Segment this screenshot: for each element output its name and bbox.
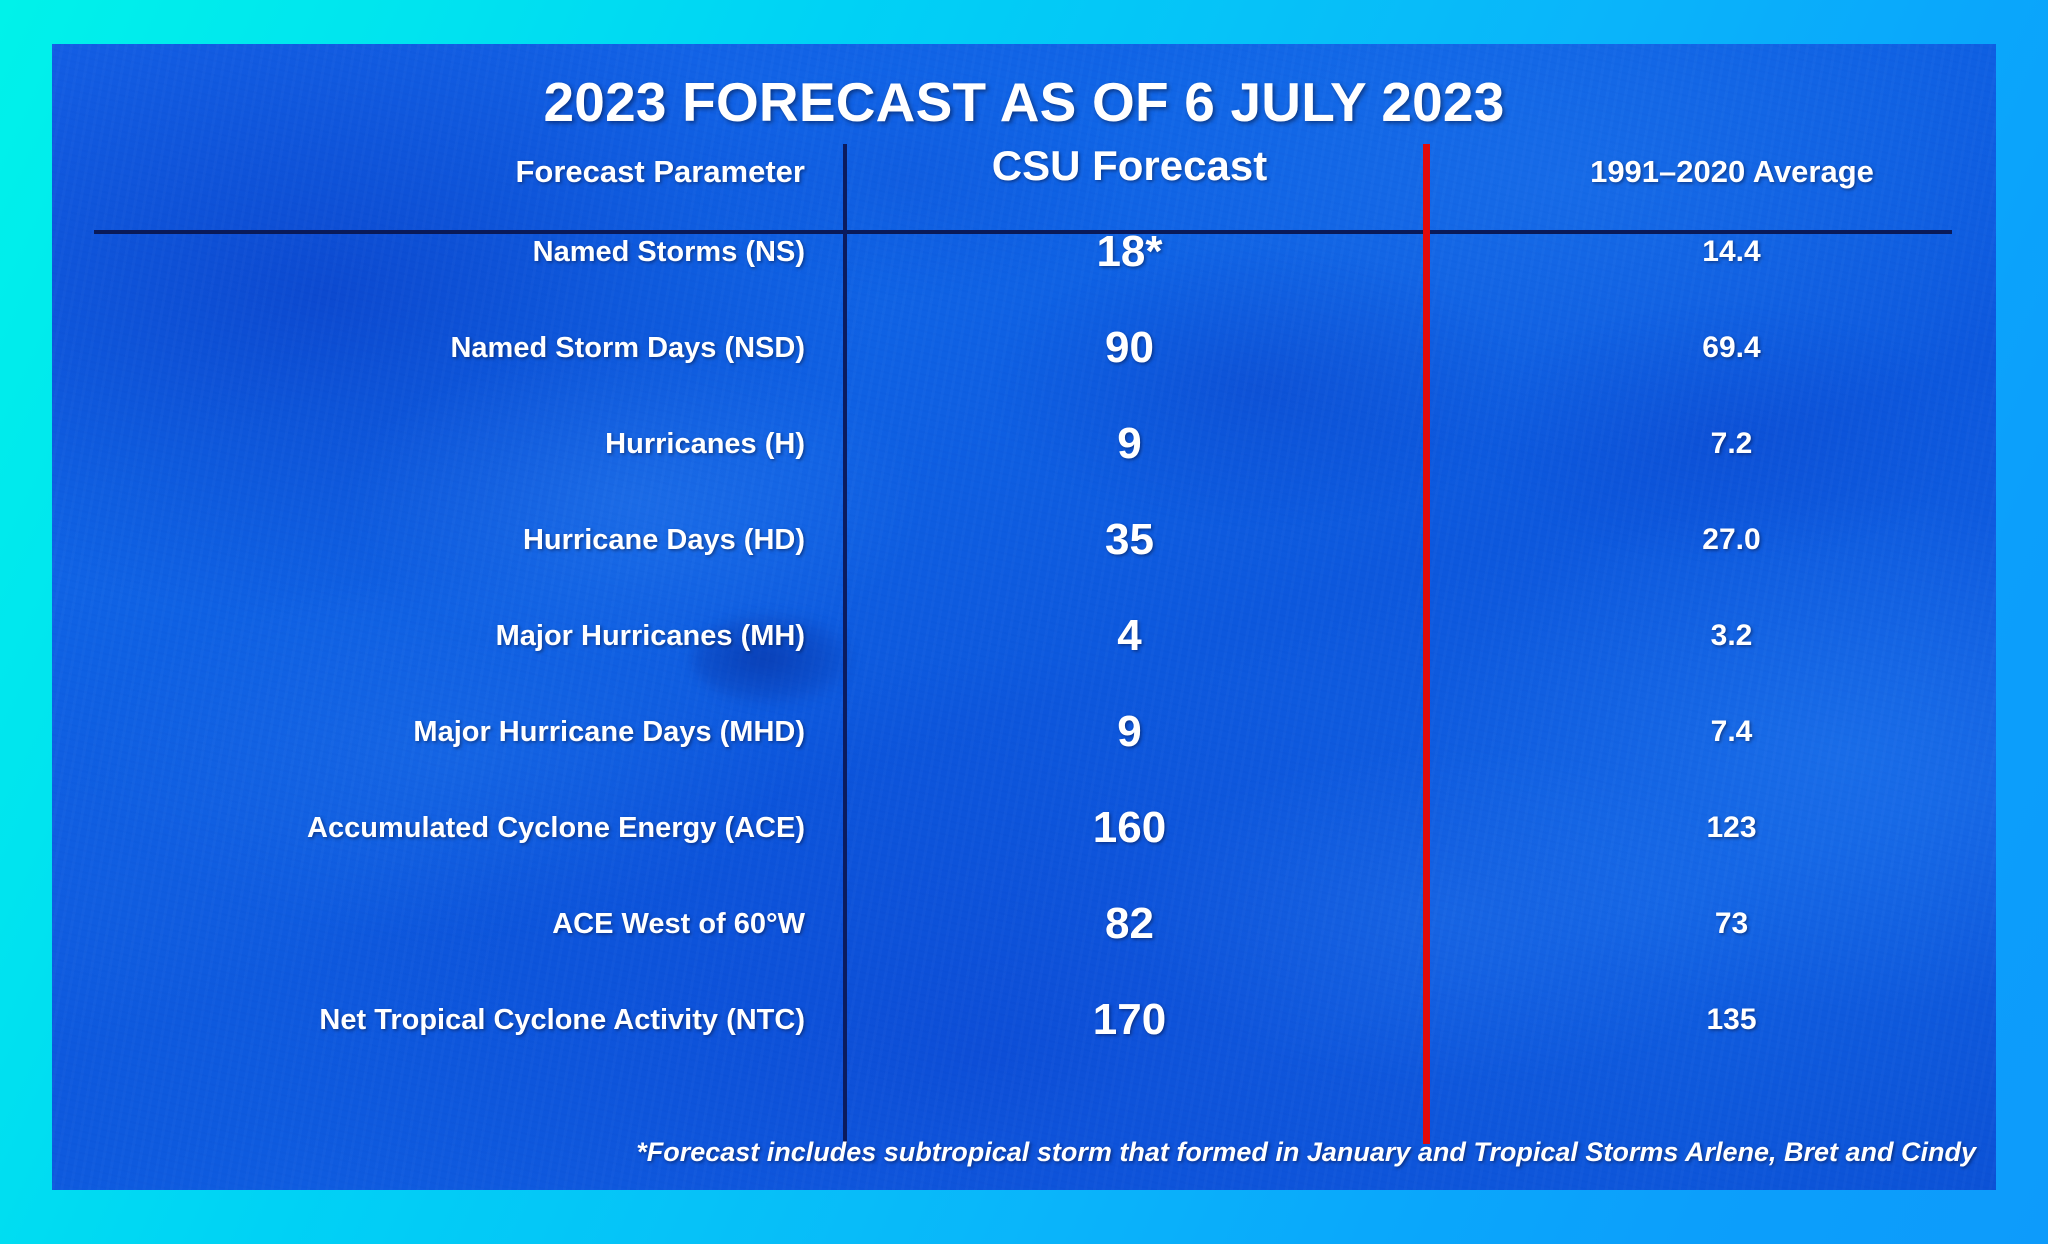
- poster-frame: 2023 FORECAST AS OF 6 JULY 2023 Forecast…: [0, 0, 2048, 1244]
- cell-parameter: Hurricanes (H): [52, 396, 837, 492]
- cell-csu-forecast: 4: [837, 588, 1422, 684]
- forecast-table-wrapper: Forecast Parameter CSU Forecast 1991–202…: [52, 44, 1996, 1190]
- cell-average: 27.0: [1422, 492, 1996, 588]
- table-row: Major Hurricane Days (MHD) 9 7.4: [52, 684, 1996, 780]
- cell-parameter: Net Tropical Cyclone Activity (NTC): [52, 972, 837, 1068]
- cell-average: 73: [1422, 876, 1996, 972]
- table-row: Major Hurricanes (MH) 4 3.2: [52, 588, 1996, 684]
- table-row: Hurricane Days (HD) 35 27.0: [52, 492, 1996, 588]
- forecast-panel: 2023 FORECAST AS OF 6 JULY 2023 Forecast…: [52, 44, 1996, 1190]
- cell-average: 135: [1422, 972, 1996, 1068]
- cell-csu-forecast: 9: [837, 396, 1422, 492]
- cell-parameter: Major Hurricanes (MH): [52, 588, 837, 684]
- cell-average: 123: [1422, 780, 1996, 876]
- table-row: Named Storms (NS) 18* 14.4: [52, 204, 1996, 300]
- cell-csu-forecast: 170: [837, 972, 1422, 1068]
- cell-average: 14.4: [1422, 204, 1996, 300]
- cell-csu-forecast: 9: [837, 684, 1422, 780]
- table-body: Named Storms (NS) 18* 14.4 Named Storm D…: [52, 204, 1996, 1068]
- column-header-csu-forecast: CSU Forecast: [837, 142, 1422, 204]
- cell-csu-forecast: 18*: [837, 204, 1422, 300]
- cell-average: 7.2: [1422, 396, 1996, 492]
- cell-parameter: ACE West of 60°W: [52, 876, 837, 972]
- cell-csu-forecast: 35: [837, 492, 1422, 588]
- cell-average: 7.4: [1422, 684, 1996, 780]
- forecast-table: Forecast Parameter CSU Forecast 1991–202…: [52, 142, 1996, 1068]
- column-header-parameter: Forecast Parameter: [52, 142, 837, 204]
- table-row: ACE West of 60°W 82 73: [52, 876, 1996, 972]
- cell-parameter: Hurricane Days (HD): [52, 492, 837, 588]
- table-row: Named Storm Days (NSD) 90 69.4: [52, 300, 1996, 396]
- cell-csu-forecast: 90: [837, 300, 1422, 396]
- cell-average: 69.4: [1422, 300, 1996, 396]
- footnote-text: *Forecast includes subtropical storm tha…: [112, 1137, 1976, 1168]
- table-header: Forecast Parameter CSU Forecast 1991–202…: [52, 142, 1996, 204]
- column-header-average: 1991–2020 Average: [1422, 142, 1996, 204]
- table-row: Accumulated Cyclone Energy (ACE) 160 123: [52, 780, 1996, 876]
- cell-parameter: Named Storms (NS): [52, 204, 837, 300]
- cell-parameter: Named Storm Days (NSD): [52, 300, 837, 396]
- cell-parameter: Major Hurricane Days (MHD): [52, 684, 837, 780]
- cell-average: 3.2: [1422, 588, 1996, 684]
- cell-csu-forecast: 160: [837, 780, 1422, 876]
- table-row: Net Tropical Cyclone Activity (NTC) 170 …: [52, 972, 1996, 1068]
- header-row: Forecast Parameter CSU Forecast 1991–202…: [52, 142, 1996, 204]
- cell-parameter: Accumulated Cyclone Energy (ACE): [52, 780, 837, 876]
- cell-csu-forecast: 82: [837, 876, 1422, 972]
- table-row: Hurricanes (H) 9 7.2: [52, 396, 1996, 492]
